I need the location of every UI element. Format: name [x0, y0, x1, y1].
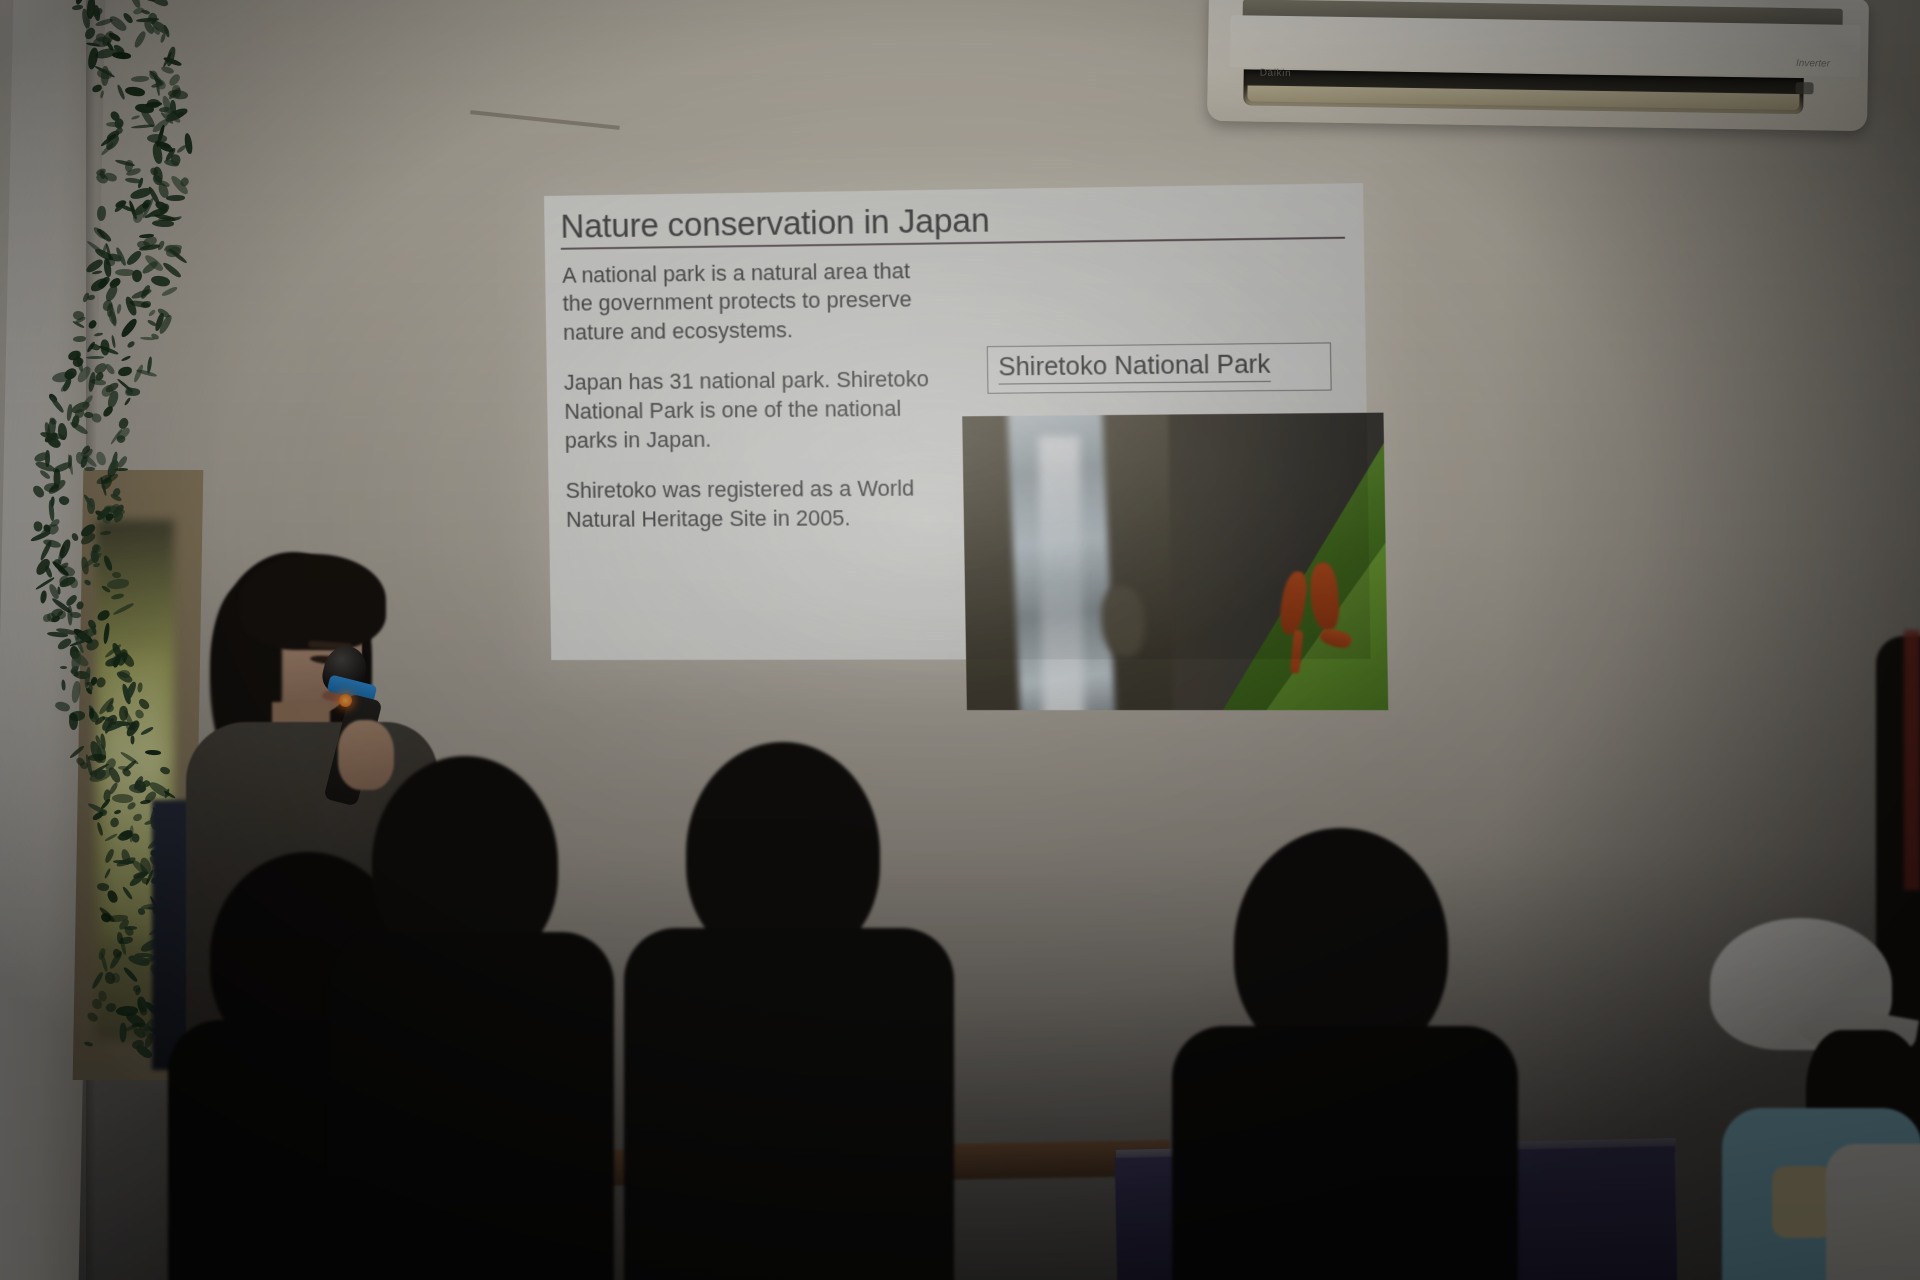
- microphone-power-led-icon: [339, 694, 352, 707]
- presentation-photo: Daikin Inverter Nature conservation in J…: [0, 0, 1920, 1280]
- slide-body: A national park is a natural area that t…: [561, 251, 1354, 535]
- air-conditioner-indicator-icon: [1795, 82, 1813, 94]
- slide-title: Nature conservation in Japan: [560, 196, 1345, 250]
- white-collar: [1826, 1144, 1920, 1280]
- slide-callout-label: Shiretoko National Park: [998, 350, 1270, 384]
- audience-member-center: [628, 742, 928, 1280]
- air-conditioner-sub-label: Inverter: [1796, 58, 1830, 70]
- presenter-hair-fringe: [238, 554, 386, 650]
- air-conditioner-front-panel: [1230, 15, 1861, 77]
- air-conditioner-brand-label: Daikin: [1260, 68, 1292, 79]
- shoulders: [1172, 1026, 1518, 1280]
- audience-member-with-cap: [1686, 918, 1920, 1280]
- audience-member-left-2: [352, 756, 582, 1280]
- slide-paragraph-3: Shiretoko was registered as a World Natu…: [565, 474, 948, 534]
- slide-paragraph-2: Japan has 31 national park. Shiretoko Na…: [564, 365, 948, 455]
- shoulders: [328, 932, 614, 1280]
- air-conditioner: Daikin Inverter: [1207, 0, 1869, 131]
- photo-waterfall-highlight: [1039, 435, 1085, 710]
- red-object-edge: [1904, 630, 1920, 890]
- slide-content: Nature conservation in Japan A national …: [544, 183, 1371, 660]
- slide-callout-box: Shiretoko National Park: [987, 342, 1332, 393]
- shirt-character-print-icon: [1772, 1166, 1834, 1238]
- slide-paragraph-1: A national park is a natural area that t…: [562, 256, 946, 347]
- slide-photo: [962, 412, 1388, 710]
- audience-member-right-1: [1186, 828, 1486, 1280]
- shoulders: [624, 928, 954, 1280]
- projected-slide: Nature conservation in Japan A national …: [544, 183, 1371, 660]
